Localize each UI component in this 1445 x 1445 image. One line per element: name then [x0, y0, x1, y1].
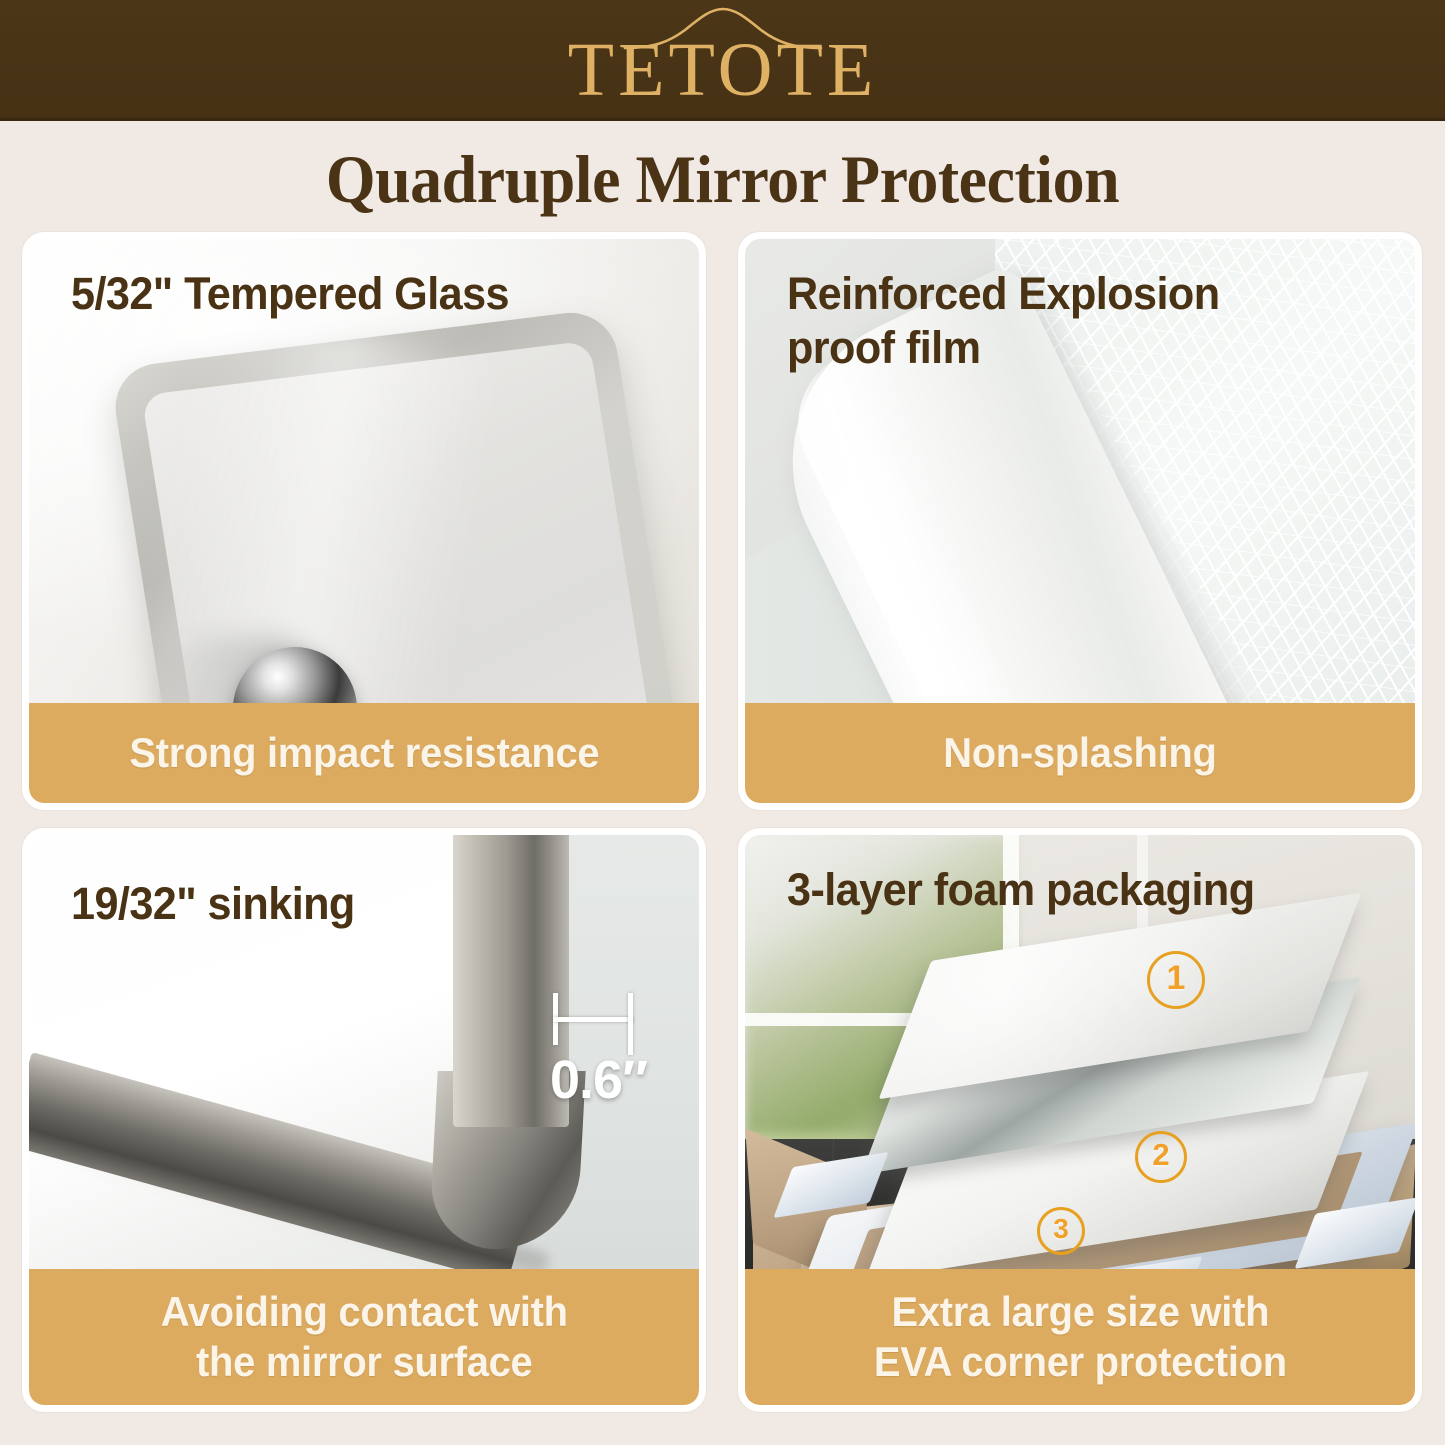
card-caption-bar: Avoiding contact with the mirror surface	[29, 1269, 699, 1405]
card-headline: Reinforced Explosion proof film	[787, 267, 1238, 375]
card-caption-bar: Extra large size with EVA corner protect…	[745, 1269, 1415, 1405]
card-caption-text: Strong impact resistance	[129, 728, 599, 778]
feature-card-sinking-frame[interactable]: 0.6″ 19/32" sinking Avoiding contact wit…	[22, 828, 706, 1412]
card-caption-bar: Non-splashing	[745, 703, 1415, 803]
brand-logo: TETOTE	[513, 4, 933, 116]
card-caption-bar: Strong impact resistance	[29, 703, 699, 803]
card-caption-text: Avoiding contact with the mirror surface	[160, 1287, 567, 1387]
page-title: Quadruple Mirror Protection	[43, 140, 1401, 218]
feature-card-foam-packaging[interactable]: 1 2 3 3-layer foam packaging Extra large…	[738, 828, 1422, 1412]
card-headline: 5/32" Tempered Glass	[71, 267, 509, 321]
tempered-glass-photo: 5/32" Tempered Glass	[29, 239, 699, 703]
feature-card-explosion-proof-film[interactable]: Reinforced Explosion proof film Non-spla…	[738, 232, 1422, 810]
card-headline: 19/32" sinking	[71, 877, 355, 931]
layer-badge-1: 1	[1147, 951, 1205, 1009]
product-infographic: TETOTE Quadruple Mirror Protection 5/32"…	[0, 0, 1445, 1445]
card-caption-text: Extra large size with EVA corner protect…	[873, 1287, 1286, 1387]
card-headline: 3-layer foam packaging	[787, 863, 1325, 917]
explosion-proof-film-photo: Reinforced Explosion proof film	[745, 239, 1415, 703]
feature-card-tempered-glass[interactable]: 5/32" Tempered Glass Strong impact resis…	[22, 232, 706, 810]
card-caption-text: Non-splashing	[943, 728, 1216, 778]
layer-badge-2: 2	[1135, 1131, 1187, 1183]
feature-card-grid: 5/32" Tempered Glass Strong impact resis…	[22, 232, 1422, 1412]
dimension-label: 0.6″	[550, 1051, 647, 1109]
sinking-frame-photo: 0.6″ 19/32" sinking	[29, 835, 699, 1269]
foam-packaging-photo: 1 2 3 3-layer foam packaging	[745, 835, 1415, 1269]
brand-header-band: TETOTE	[0, 0, 1445, 121]
layer-badge-3: 3	[1037, 1207, 1085, 1255]
brand-name: TETOTE	[513, 28, 933, 112]
